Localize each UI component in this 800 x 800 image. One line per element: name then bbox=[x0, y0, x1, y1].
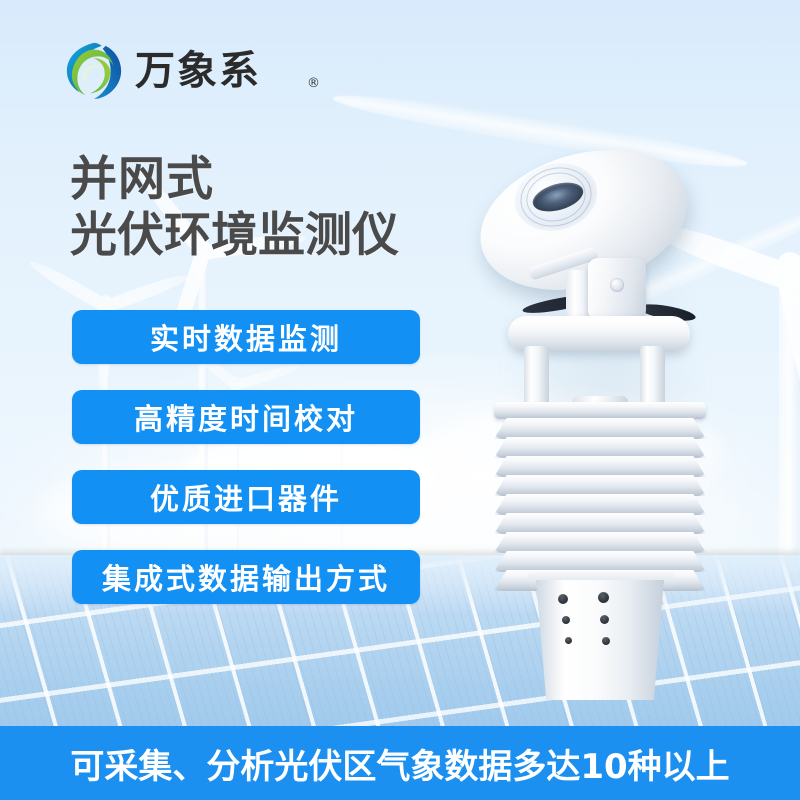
shield-louver bbox=[494, 532, 706, 553]
feature-list: 实时数据监测 高精度时间校对 优质进口器件 集成式数据输出方式 bbox=[72, 310, 420, 630]
bottom-banner: 可采集、分析光伏区气象数据多达10种以上 bbox=[0, 726, 800, 800]
louvered-radiation-shield bbox=[494, 402, 706, 588]
shield-support-leg-left bbox=[524, 346, 549, 410]
shield-louver bbox=[494, 475, 706, 496]
sensor-vent-hole bbox=[558, 594, 568, 604]
shield-louver bbox=[494, 551, 706, 572]
shield-louver bbox=[494, 418, 706, 439]
sensor-vent-hole bbox=[565, 637, 572, 644]
product-image-environment-monitor bbox=[470, 140, 730, 720]
title-line-2: 光伏环境监测仪 bbox=[70, 208, 399, 264]
shield-support-leg-right bbox=[640, 346, 665, 410]
page-title: 并网式 光伏环境监测仪 bbox=[70, 152, 399, 264]
feature-pill-imported-components[interactable]: 优质进口器件 bbox=[72, 470, 420, 524]
mount-pivot-screw bbox=[610, 278, 624, 292]
feature-pill-realtime-monitoring[interactable]: 实时数据监测 bbox=[72, 310, 420, 364]
brand-logo[interactable]: 万象系 ® bbox=[63, 40, 261, 102]
sensor-vent-hole bbox=[562, 616, 570, 624]
shield-louver bbox=[494, 494, 706, 515]
shield-louver bbox=[494, 402, 706, 419]
sensor-vent-hole bbox=[598, 592, 609, 603]
bottom-banner-text: 可采集、分析光伏区气象数据多达10种以上 bbox=[70, 739, 729, 788]
shield-louver bbox=[494, 437, 706, 458]
sensor-vent-hole bbox=[600, 615, 609, 624]
shield-louver bbox=[494, 456, 706, 477]
pyranometer-assembly bbox=[470, 140, 700, 320]
globe-swirl-logo-icon bbox=[63, 40, 125, 102]
feature-pill-integrated-output[interactable]: 集成式数据输出方式 bbox=[72, 550, 420, 604]
feature-pill-time-sync[interactable]: 高精度时间校对 bbox=[72, 390, 420, 444]
shield-louver bbox=[494, 513, 706, 534]
product-banner-stage: 万象系 ® 并网式 光伏环境监测仪 实时数据监测 高精度时间校对 优质进口器件 … bbox=[0, 0, 800, 800]
brand-name: 万象系 bbox=[135, 51, 261, 91]
title-line-1: 并网式 bbox=[70, 152, 399, 208]
lower-sensor-housing bbox=[536, 580, 664, 700]
sensor-vent-hole bbox=[602, 637, 610, 645]
